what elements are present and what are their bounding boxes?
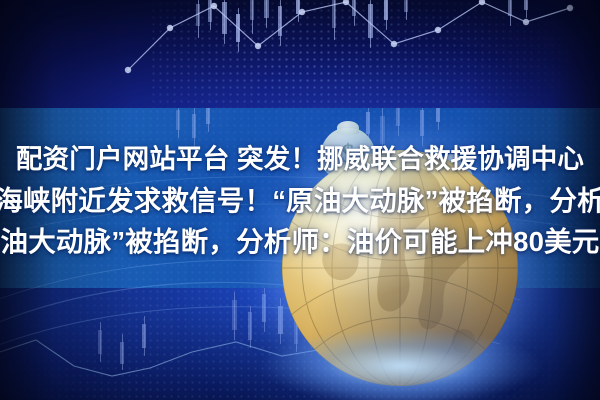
trend-node-dot	[299, 9, 305, 15]
trend-node-dot	[567, 5, 573, 11]
news-banner-image: $$$	[0, 0, 600, 400]
trend-node-dot	[125, 67, 131, 73]
trend-node-dot	[435, 27, 441, 33]
globe-horizon-glow	[236, 318, 566, 400]
trend-node-dot	[523, 19, 529, 25]
trend-node-dot	[167, 25, 173, 31]
trend-node-dots-top	[125, 0, 573, 73]
trend-node-dot	[391, 41, 397, 47]
earth-globe	[282, 150, 518, 400]
trend-node-dot	[211, 3, 217, 9]
trend-node-dot	[255, 43, 261, 49]
trend-node-dot	[479, 0, 485, 5]
trend-polyline-top	[128, 2, 570, 70]
